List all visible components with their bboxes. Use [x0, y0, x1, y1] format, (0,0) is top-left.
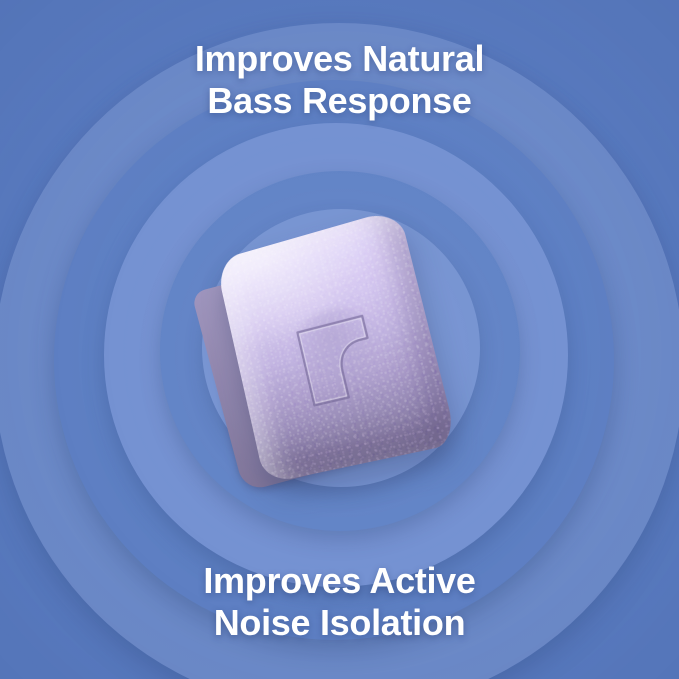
headline-top: Improves Natural Bass Response [0, 38, 679, 122]
product-marketing-image: Improves Natural Bass Response Improves … [0, 0, 679, 679]
headline-bottom: Improves Active Noise Isolation [0, 560, 679, 644]
foam-ear-tip-product [189, 198, 489, 498]
